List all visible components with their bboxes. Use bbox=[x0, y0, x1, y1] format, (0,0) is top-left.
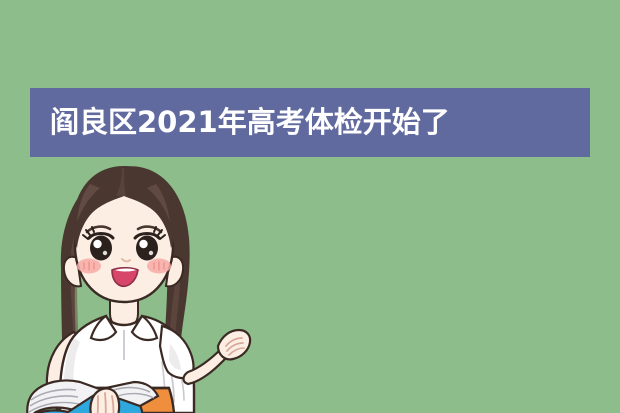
page-title: 阎良区2021年高考体检开始了 bbox=[50, 107, 450, 139]
finger-1 bbox=[97, 396, 98, 413]
title-banner: 阎良区2021年高考体检开始了 bbox=[30, 88, 590, 157]
blush-left bbox=[77, 259, 101, 274]
blush-right bbox=[147, 259, 171, 274]
hand-right-open bbox=[218, 330, 250, 359]
student-girl-illustration bbox=[18, 150, 254, 413]
poster-canvas: 阎良区2021年高考体检开始了 bbox=[0, 0, 620, 413]
face-group bbox=[73, 166, 175, 302]
finger-2 bbox=[105, 393, 106, 413]
